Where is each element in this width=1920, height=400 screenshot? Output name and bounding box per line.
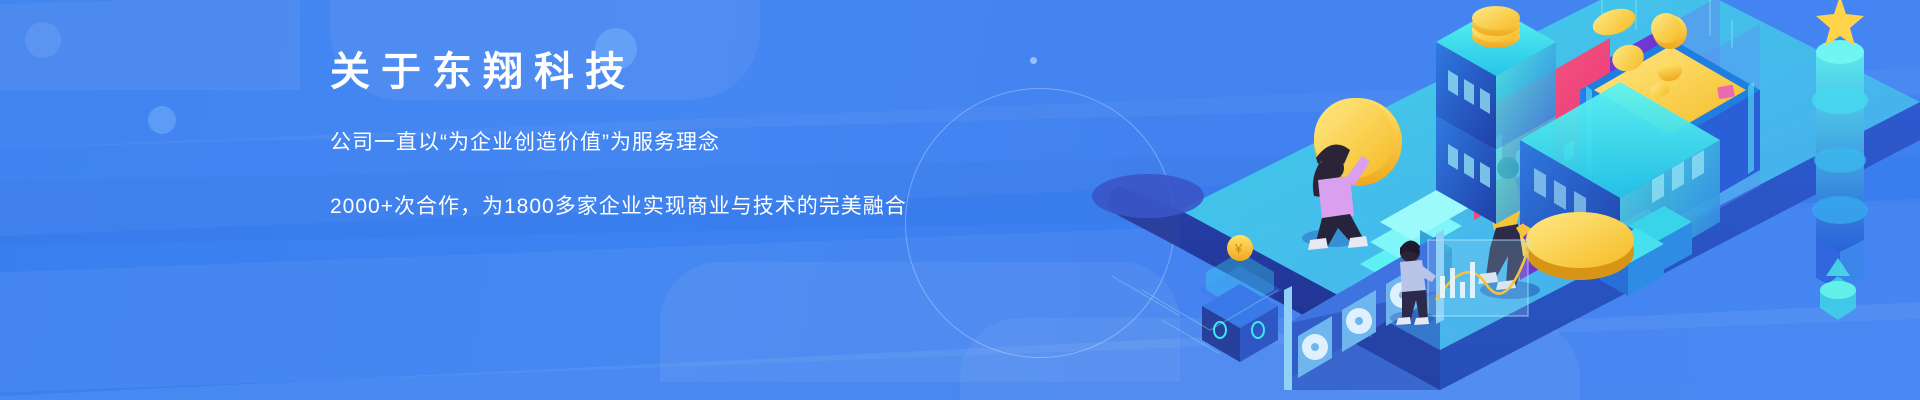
banner-copy: 关于东翔科技 公司一直以“为企业创造价值”为服务理念 2000+次合作，为180… [330, 52, 950, 220]
star-antenna-tower [1812, 0, 1868, 290]
hero-illustration: ¥ [880, 0, 1920, 400]
coin-stack-top [1472, 6, 1520, 48]
banner-subtitle-secondary: 2000+次合作，为1800多家企业实现商业与技术的完美融合 [330, 190, 950, 220]
banner-subtitle-primary: 公司一直以“为企业创造价值”为服务理念 [330, 126, 950, 156]
about-banner: 关于东翔科技 公司一直以“为企业创造价值”为服务理念 2000+次合作，为180… [0, 0, 1920, 400]
background-circle-large [25, 22, 61, 58]
page-title: 关于东翔科技 [330, 52, 950, 92]
person-with-chart-board [1390, 240, 1528, 325]
svg-text:¥: ¥ [1234, 241, 1243, 256]
star-icon [1816, 0, 1864, 46]
background-circle-small [148, 106, 176, 134]
big-gold-coin [1526, 212, 1634, 280]
